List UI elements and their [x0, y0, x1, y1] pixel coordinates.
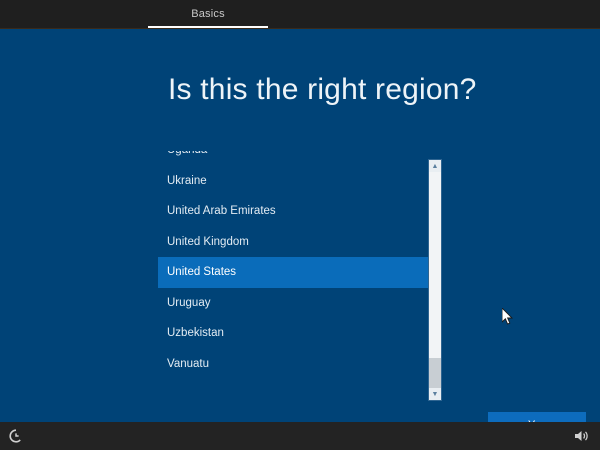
- scrollbar-track[interactable]: [429, 358, 441, 388]
- page-title: Is this the right region?: [168, 73, 477, 107]
- volume-button[interactable]: [570, 426, 592, 446]
- bottom-chrome-bar: [0, 422, 600, 450]
- ease-of-access-icon: [8, 428, 24, 444]
- list-item[interactable]: Uzbekistan: [158, 318, 428, 349]
- chevron-up-icon[interactable]: ▲: [429, 160, 441, 172]
- chevron-down-icon[interactable]: ▼: [429, 388, 441, 400]
- speaker-volume-icon: [573, 428, 589, 444]
- tab-basics[interactable]: Basics: [148, 0, 268, 28]
- region-list[interactable]: Uganda Ukraine United Arab Emirates Unit…: [158, 151, 428, 373]
- ease-of-access-button[interactable]: [5, 426, 27, 446]
- main-stage: Is this the right region? Uganda Ukraine…: [0, 29, 600, 422]
- top-chrome-bar: Basics: [0, 0, 600, 29]
- list-item[interactable]: Uruguay: [158, 288, 428, 319]
- setup-screen: Basics Is this the right region? Uganda …: [0, 0, 600, 450]
- region-list-scrollbar[interactable]: ▲ ▼: [428, 159, 442, 401]
- list-item[interactable]: United Arab Emirates: [158, 196, 428, 227]
- region-list-viewport: Uganda Ukraine United Arab Emirates Unit…: [158, 151, 446, 373]
- list-item[interactable]: Uganda: [158, 151, 428, 166]
- list-item-selected[interactable]: United States: [158, 257, 428, 288]
- list-item[interactable]: Ukraine: [158, 166, 428, 197]
- tab-active-indicator: [148, 26, 268, 28]
- tab-basics-label: Basics: [191, 8, 225, 20]
- mouse-pointer-icon: [502, 308, 514, 326]
- scrollbar-thumb[interactable]: [429, 172, 441, 358]
- list-item[interactable]: Vanuatu: [158, 349, 428, 374]
- list-item[interactable]: United Kingdom: [158, 227, 428, 258]
